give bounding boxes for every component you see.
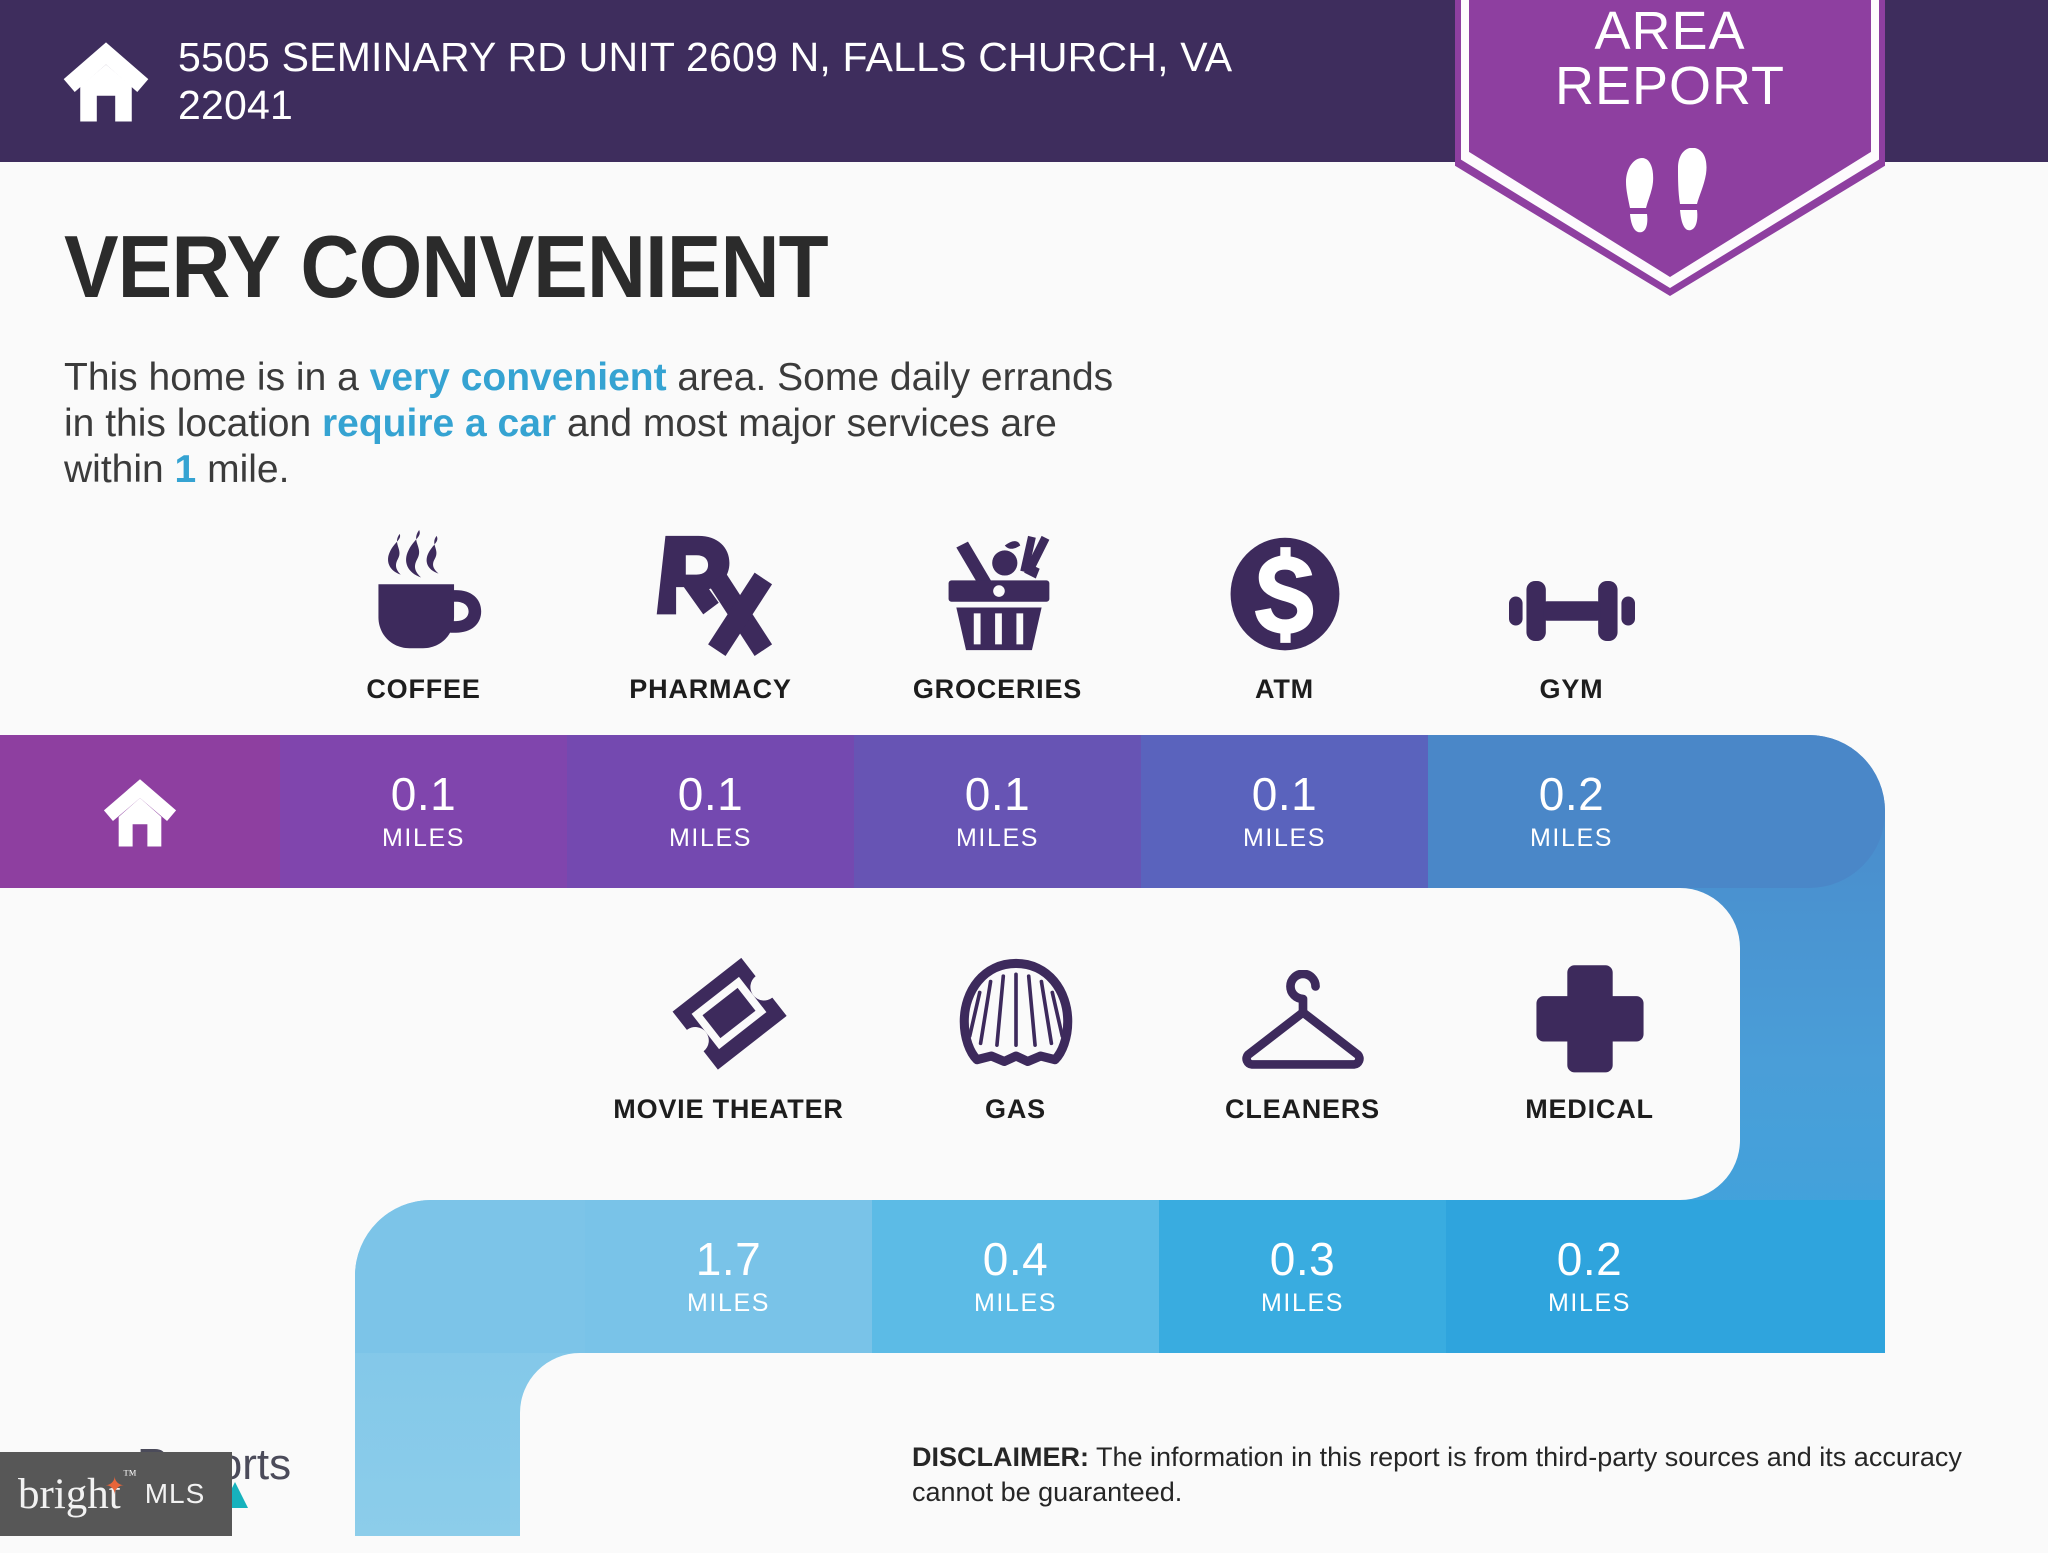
amenity-label: ATM [1255, 674, 1314, 705]
distance-value: 0.1 [678, 771, 743, 817]
amenity-icons-row-1: COFFEE PHARMACY [280, 530, 1715, 705]
amenity-atm: ATM [1141, 530, 1428, 705]
distance-unit: MILES [1261, 1289, 1344, 1318]
distance-cell-coffee: 0.1 MILES [280, 735, 567, 888]
trademark-icon: ™ [123, 1468, 137, 1484]
distance-cell-medical: 0.2 MILES [1446, 1200, 1733, 1353]
distance-value: 0.1 [391, 771, 456, 817]
rx-icon [648, 530, 774, 656]
distance-cell-cleaners: 0.3 MILES [1159, 1200, 1446, 1353]
home-icon [99, 771, 181, 853]
amenity-label: GYM [1540, 674, 1604, 705]
movie-ticket-icon [666, 950, 792, 1076]
distance-unit: MILES [669, 824, 752, 853]
distance-value: 0.1 [1252, 771, 1317, 817]
track-turn-left [355, 1200, 585, 1353]
badge-line-1: AREA [1455, 4, 1885, 59]
distance-cell-pharmacy: 0.1 MILES [567, 735, 854, 888]
brand-name: bright ✦ ™ [18, 1470, 121, 1519]
distance-unit: MILES [1530, 824, 1613, 853]
badge-line-2: REPORT [1455, 59, 1885, 114]
amenity-coffee: COFFEE [280, 530, 567, 705]
distance-value: 0.2 [1539, 771, 1604, 817]
distance-cell-atm: 0.1 MILES [1141, 735, 1428, 888]
amenity-label: GAS [985, 1094, 1046, 1125]
amenity-label: MOVIE THEATER [613, 1094, 843, 1125]
dollar-coin-icon [1224, 530, 1346, 656]
distance-unit: MILES [956, 824, 1039, 853]
sparkle-icon: ✦ [105, 1472, 125, 1501]
brand-suffix: MLS [145, 1478, 206, 1510]
distance-row-2: 1.7 MILES 0.4 MILES 0.3 MILES 0.2 MILES [355, 1200, 1885, 1353]
distance-value: 0.2 [1557, 1236, 1622, 1282]
bright-mls-logo: bright ✦ ™ MLS [0, 1452, 232, 1536]
amenity-label: GROCERIES [913, 674, 1082, 705]
amenity-gym: GYM [1428, 530, 1715, 705]
distance-row-1: 0.1 MILES 0.1 MILES 0.1 MILES 0.1 MILES … [0, 735, 1885, 888]
distance-cell-gym: 0.2 MILES [1428, 735, 1715, 888]
amenity-label: MEDICAL [1525, 1094, 1654, 1125]
distance-cell-movie-theater: 1.7 MILES [585, 1200, 872, 1353]
distance-cell-groceries: 0.1 MILES [854, 735, 1141, 888]
distance-unit: MILES [1243, 824, 1326, 853]
amenity-movie-theater: MOVIE THEATER [585, 950, 872, 1125]
distance-unit: MILES [687, 1289, 770, 1318]
distance-unit: MILES [974, 1289, 1057, 1318]
distance-value: 1.7 [696, 1236, 761, 1282]
clothes-hanger-icon [1240, 950, 1366, 1076]
amenity-icons-row-2: MOVIE THEATER GAS [585, 950, 1733, 1125]
distance-unit: MILES [382, 824, 465, 853]
badge-text: AREA REPORT [1455, 4, 1885, 114]
dumbbell-icon [1509, 530, 1635, 656]
coffee-cup-icon [361, 530, 487, 656]
amenity-groceries: GROCERIES [854, 530, 1141, 705]
disclaimer: DISCLAIMER: The information in this repo… [912, 1440, 1972, 1510]
amenity-label: CLEANERS [1225, 1094, 1380, 1125]
distance-unit: MILES [1548, 1289, 1631, 1318]
amenity-pharmacy: PHARMACY [567, 530, 854, 705]
footprints-icon [1618, 148, 1722, 238]
track-turn-right [1715, 735, 1885, 888]
grocery-basket-icon [935, 530, 1061, 656]
origin-home-cell [0, 735, 280, 888]
amenity-medical: MEDICAL [1446, 950, 1733, 1125]
medical-cross-icon [1531, 950, 1649, 1076]
area-report-badge: AREA REPORT [1455, 0, 1885, 296]
distance-cell-gas: 0.4 MILES [872, 1200, 1159, 1353]
amenity-label: COFFEE [366, 674, 480, 705]
distance-value: 0.4 [983, 1236, 1048, 1282]
disclaimer-label: DISCLAIMER: [912, 1442, 1089, 1472]
amenity-cleaners: CLEANERS [1159, 950, 1446, 1125]
amenity-gas: GAS [872, 950, 1159, 1125]
gas-shell-icon [957, 950, 1075, 1076]
distance-value: 0.3 [1270, 1236, 1335, 1282]
distance-value: 0.1 [965, 771, 1030, 817]
track-row2-tail [1733, 1200, 1885, 1353]
amenity-label: PHARMACY [629, 674, 791, 705]
